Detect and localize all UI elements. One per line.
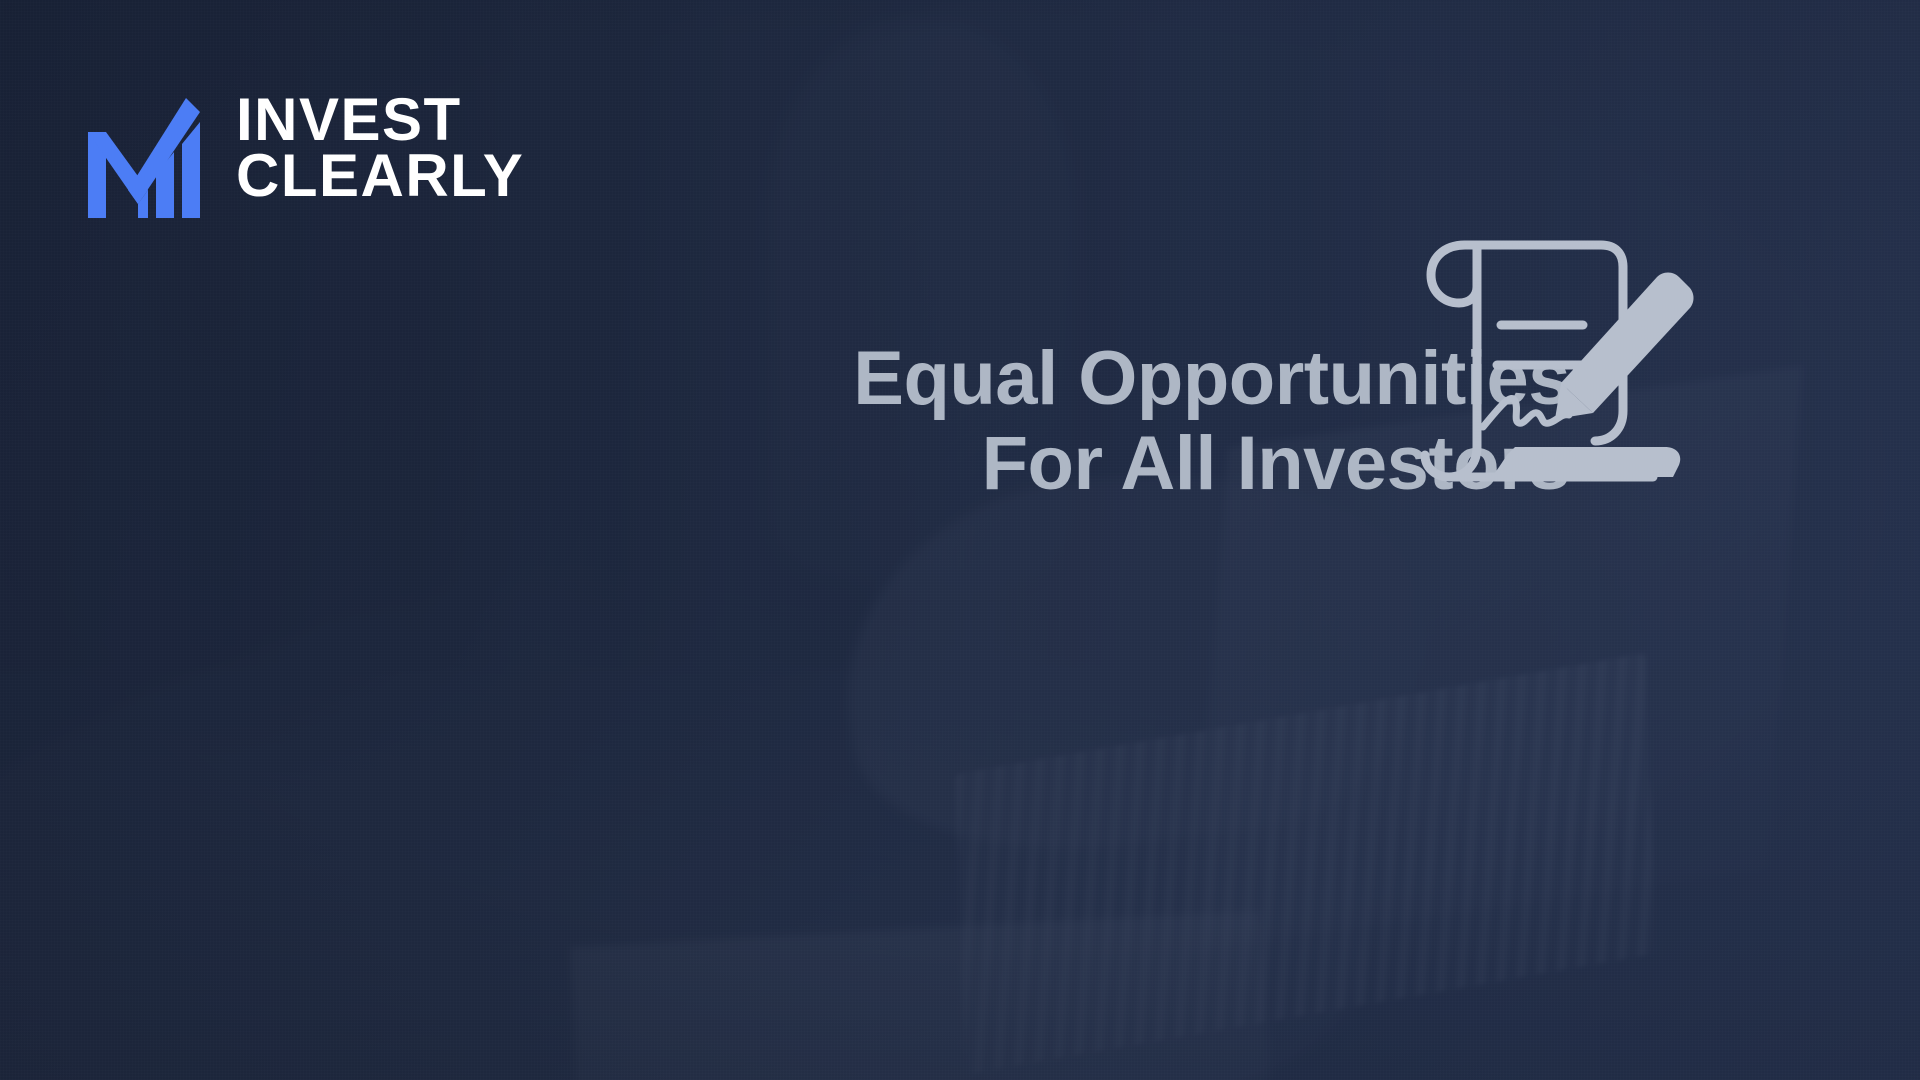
hero-banner: INVEST CLEARLY Equal Opportunities For A…	[0, 0, 1920, 1080]
chart-check-logo-icon	[80, 78, 208, 218]
signed-scroll-contract-icon	[1405, 215, 1715, 505]
brand-logo[interactable]: INVEST CLEARLY	[80, 78, 524, 218]
brand-wordmark: INVEST CLEARLY	[236, 92, 524, 204]
